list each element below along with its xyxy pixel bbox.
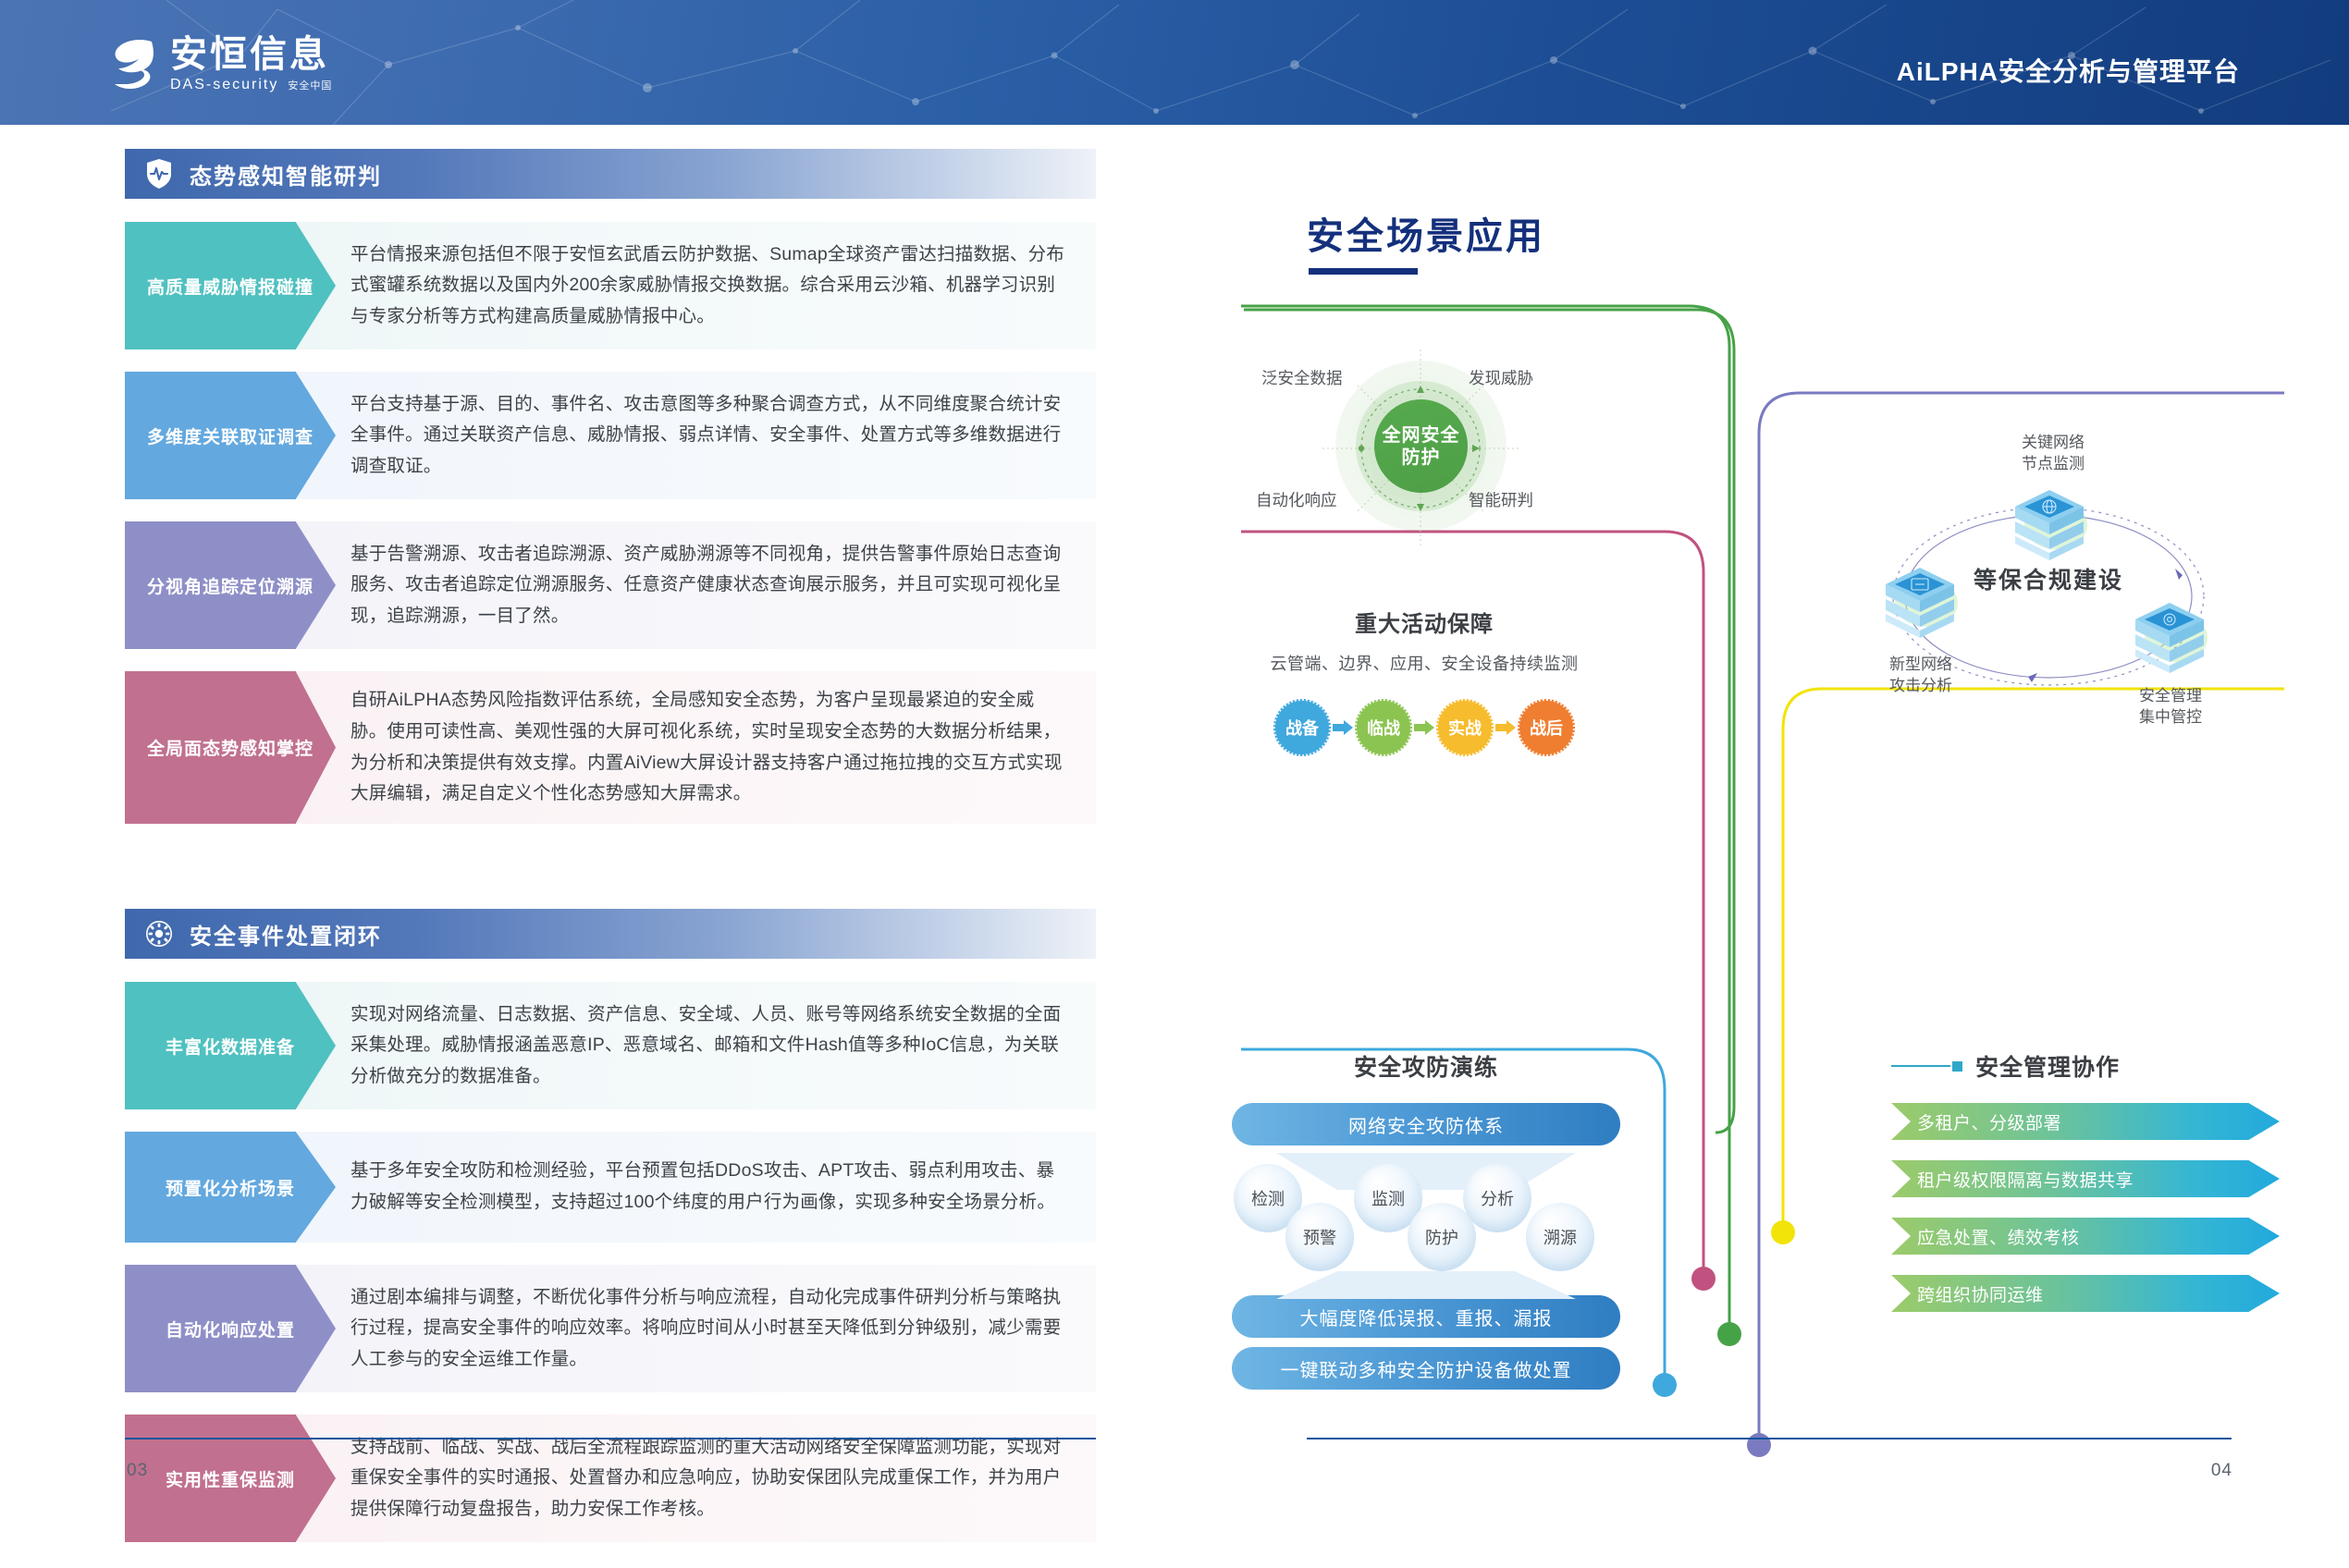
collaboration-lead-dot-icon	[1952, 1061, 1962, 1072]
feature-row: 全局面态势感知掌控 自研AiLPHA态势风险指数评估系统，全局感知安全态势，为客…	[125, 671, 1096, 824]
feature-tag: 丰富化数据准备	[125, 982, 336, 1109]
feature-body: 支持战前、临战、实战、战后全流程跟踪监测的重大活动网络安全保障监测功能，实现对重…	[336, 1415, 1096, 1542]
company-logo: 安恒信息 DAS-security 安全中国	[109, 35, 332, 93]
collaboration-item: 应急处置、绩效考核	[1891, 1218, 2280, 1255]
step-circle: 战后	[1518, 699, 1575, 756]
compliance-label-top-line1: 关键网络	[1993, 433, 2113, 454]
feature-body: 平台支持基于源、目的、事件名、攻击意图等多种聚合调查方式，从不同维度聚合统计安全…	[336, 372, 1096, 499]
cycle-center-line2: 防护	[1402, 447, 1441, 469]
step-circle: 实战	[1436, 699, 1494, 756]
compliance-label-top: 关键网络 节点监测	[1993, 433, 2113, 475]
logo-tagline: 安全中国	[288, 78, 332, 92]
compliance-label-left-line2: 攻击分析	[1865, 676, 1976, 697]
footer-divider-right	[1307, 1438, 2232, 1439]
left-page: 态势感知智能研判 高质量威胁情报碰撞 平台情报来源包括但不限于安恒玄武盾云防护数…	[0, 125, 1174, 1568]
feature-row: 高质量威胁情报碰撞 平台情报来源包括但不限于安恒玄武盾云防护数据、Sumap全球…	[125, 222, 1096, 349]
feature-body: 实现对网络流量、日志数据、资产信息、安全域、人员、账号等网络系统安全数据的全面采…	[336, 982, 1096, 1109]
major-event-steps: 战备 临战 实战 战后	[1225, 699, 1623, 756]
server-node-icon-right	[2130, 601, 2209, 673]
section-header-incident-response: 安全事件处置闭环	[125, 909, 1096, 959]
brochure-spread: 安恒信息 DAS-security 安全中国 AiLPHA安全分析与管理平台 态…	[0, 0, 2349, 1568]
platform-title: AiLPHA安全分析与管理平台	[1897, 52, 2240, 89]
feature-body: 基于多年安全攻防和检测经验，平台预置包括DDoS攻击、APT攻击、弱点利用攻击、…	[336, 1132, 1096, 1243]
das-security-swoosh-icon	[109, 36, 157, 93]
collaboration-header: 安全管理协作	[1891, 1049, 2280, 1083]
drill-bottom-pill-2: 一键联动多种安全防护设备做处置	[1232, 1347, 1620, 1390]
cycle-label-bottom-left: 自动化响应	[1256, 488, 1337, 511]
feature-row: 多维度关联取证调查 平台支持基于源、目的、事件名、攻击意图等多种聚合调查方式，从…	[125, 372, 1096, 499]
cycle-center-label: 全网安全 防护	[1374, 399, 1468, 493]
step-circle: 临战	[1355, 699, 1412, 756]
feature-tag: 实用性重保监测	[125, 1415, 336, 1542]
compliance-label-left: 新型网络 攻击分析	[1865, 655, 1976, 697]
connector-dot-blue	[1653, 1373, 1677, 1397]
block-network-security-cycle: 全网安全 防护 泛安全数据 发现威胁 自动化响应 智能研判	[1248, 333, 1581, 564]
drill-bubble: 预警	[1285, 1203, 1354, 1271]
feature-tag: 预置化分析场景	[125, 1132, 336, 1243]
feature-body: 自研AiLPHA态势风险指数评估系统，全局感知安全态势，为客户呈现最紧迫的安全威…	[336, 671, 1096, 824]
connector-dot-rose	[1691, 1267, 1716, 1291]
section-header-situational-awareness: 态势感知智能研判	[125, 149, 1096, 199]
arrow-right-icon	[1495, 720, 1516, 735]
compliance-label-right-line1: 安全管理	[2115, 686, 2226, 707]
cycle-center-line1: 全网安全	[1383, 424, 1460, 447]
feature-tag: 自动化响应处置	[125, 1265, 336, 1392]
block-security-drill: 安全攻防演练 网络安全攻防体系 检测 监测 分析 预警 防护 溯源 大幅度降低误…	[1232, 1049, 1620, 1364]
block-compliance-construction: 等保合规建设 关键网络 节点监测 新型网络 攻击分析 安全管理 集中管控	[1863, 425, 2233, 730]
collaboration-item: 跨组织协同运维	[1891, 1275, 2280, 1312]
connector-dot-green	[1717, 1322, 1741, 1346]
compliance-label-left-line1: 新型网络	[1865, 655, 1976, 676]
page-header: 安恒信息 DAS-security 安全中国 AiLPHA安全分析与管理平台	[0, 0, 2349, 125]
logo-chinese-name: 安恒信息	[170, 35, 332, 74]
compliance-label-top-line2: 节点监测	[1993, 454, 2113, 475]
drill-bottom-pill-1: 大幅度降低误报、重报、漏报	[1232, 1295, 1620, 1338]
block-major-event-assurance: 重大活动保障 云管端、边界、应用、安全设备持续监测 战备 临战 实战 战后	[1225, 606, 1623, 790]
section-title: 态势感知智能研判	[190, 158, 382, 190]
collaboration-title: 安全管理协作	[1975, 1049, 2120, 1083]
collaboration-lead-line	[1891, 1065, 1950, 1067]
collaboration-item: 多租户、分级部署	[1891, 1103, 2280, 1140]
connector-dot-purple	[1747, 1433, 1771, 1457]
major-event-title: 重大活动保障	[1225, 606, 1623, 638]
logo-english-name: DAS-security	[170, 77, 278, 93]
feature-tag: 多维度关联取证调查	[125, 372, 336, 499]
right-page: 安全场景应用	[1174, 125, 2349, 1568]
arrow-right-icon	[1333, 720, 1353, 735]
server-node-icon-top	[2010, 488, 2089, 560]
compliance-title: 等保合规建设	[1863, 562, 2233, 595]
feature-row: 自动化响应处置 通过剧本编排与调整，不断优化事件分析与响应流程，自动化完成事件研…	[125, 1265, 1096, 1392]
feature-body: 通过剧本编排与调整，不断优化事件分析与响应流程，自动化完成事件研判分析与策略执行…	[336, 1265, 1096, 1392]
drill-bubble: 防护	[1408, 1203, 1476, 1271]
feature-tag: 分视角追踪定位溯源	[125, 521, 336, 649]
drill-bubbles: 检测 监测 分析 预警 防护 溯源	[1232, 1149, 1620, 1269]
step-circle: 战备	[1273, 699, 1331, 756]
arrow-right-icon	[1414, 720, 1434, 735]
connector-dot-yellow	[1771, 1220, 1795, 1244]
drill-bubble: 溯源	[1526, 1203, 1594, 1271]
collaboration-item: 租户级权限隔离与数据共享	[1891, 1160, 2280, 1197]
shield-pulse-icon	[145, 158, 173, 190]
footer-divider	[125, 1438, 1096, 1439]
feature-body: 基于告警溯源、攻击者追踪溯源、资产威胁溯源等不同视角，提供告警事件原始日志查询服…	[336, 521, 1096, 649]
cycle-label-top-right: 发现威胁	[1469, 366, 1533, 389]
cycle-label-top-left: 泛安全数据	[1261, 366, 1343, 389]
block-security-collaboration: 安全管理协作 多租户、分级部署 租户级权限隔离与数据共享 应急处置、绩效考核 跨…	[1891, 1049, 2280, 1345]
feature-row: 分视角追踪定位溯源 基于告警溯源、攻击者追踪溯源、资产威胁溯源等不同视角，提供告…	[125, 521, 1096, 649]
major-event-subtitle: 云管端、边界、应用、安全设备持续监测	[1225, 651, 1623, 675]
feature-row: 实用性重保监测 支持战前、临战、实战、战后全流程跟踪监测的重大活动网络安全保障监…	[125, 1415, 1096, 1542]
drill-title: 安全攻防演练	[1232, 1049, 1620, 1083]
page-number-left: 03	[127, 1461, 148, 1481]
compliance-label-right-line2: 集中管控	[2115, 707, 2226, 729]
page-number-right: 04	[2211, 1461, 2232, 1481]
feature-tag: 高质量威胁情报碰撞	[125, 222, 336, 349]
drill-bubble: 分析	[1463, 1164, 1531, 1232]
gear-icon	[145, 918, 173, 949]
feature-body: 平台情报来源包括但不限于安恒玄武盾云防护数据、Sumap全球资产雷达扫描数据、分…	[336, 222, 1096, 349]
section-title: 安全事件处置闭环	[190, 918, 382, 950]
feature-row: 丰富化数据准备 实现对网络流量、日志数据、资产信息、安全域、人员、账号等网络系统…	[125, 982, 1096, 1109]
cycle-label-bottom-right: 智能研判	[1469, 488, 1533, 511]
fan-connector-bottom	[1260, 1271, 1593, 1299]
drill-top-pill: 网络安全攻防体系	[1232, 1103, 1620, 1145]
compliance-label-right: 安全管理 集中管控	[2115, 686, 2226, 729]
feature-tag: 全局面态势感知掌控	[125, 671, 336, 824]
feature-row: 预置化分析场景 基于多年安全攻防和检测经验，平台预置包括DDoS攻击、APT攻击…	[125, 1132, 1096, 1243]
